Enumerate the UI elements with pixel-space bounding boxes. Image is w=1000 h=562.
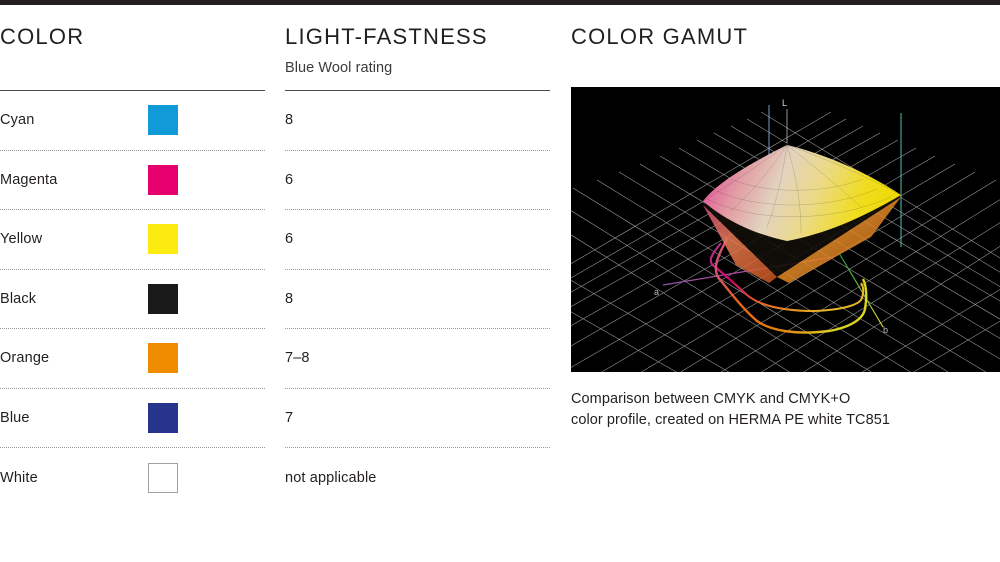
- color-swatch: [148, 224, 178, 254]
- axis-label-b: b: [883, 325, 888, 335]
- color-name: Magenta: [0, 172, 148, 188]
- blue-wool-rating-value: 6: [285, 231, 293, 247]
- light-fastness-row-list: 86687–87not applicable: [285, 91, 550, 508]
- table-row: 8: [285, 91, 550, 151]
- color-name: Yellow: [0, 231, 148, 247]
- gamut-caption-line-1: Comparison between CMYK and CMYK+O: [571, 389, 1000, 410]
- blue-wool-rating-value: 7–8: [285, 350, 310, 366]
- column-color-gamut: COLOR GAMUT: [571, 5, 1000, 49]
- blue-wool-rating-value: 6: [285, 172, 293, 188]
- color-swatch: [148, 463, 178, 493]
- table-row: not applicable: [285, 448, 550, 508]
- table-row: Cyan: [0, 91, 265, 151]
- color-name: Blue: [0, 410, 148, 426]
- gamut-3d-plot-image: a b: [571, 87, 1000, 372]
- color-row-list: CyanMagentaYellowBlackOrangeBlueWhite: [0, 91, 265, 508]
- column-light-fastness: LIGHT-FASTNESS Blue Wool rating 86687–87…: [285, 5, 550, 76]
- gamut-caption-line-2: color profile, created on HERMA PE white…: [571, 410, 1000, 431]
- page-content: COLOR CyanMagentaYellowBlackOrangeBlueWh…: [0, 5, 1000, 562]
- table-row: 6: [285, 210, 550, 270]
- column-light-fastness-subtitle: Blue Wool rating: [285, 49, 550, 76]
- axis-label-a: a: [654, 287, 659, 297]
- color-swatch: [148, 105, 178, 135]
- table-row: 7: [285, 389, 550, 449]
- color-name: Cyan: [0, 112, 148, 128]
- table-row: Blue: [0, 389, 265, 449]
- axis-label-l: L: [782, 98, 787, 108]
- color-name: White: [0, 470, 148, 486]
- color-name: Black: [0, 291, 148, 307]
- blue-wool-rating-value: 7: [285, 410, 293, 426]
- blue-wool-rating-value: not applicable: [285, 470, 377, 486]
- table-row: Magenta: [0, 151, 265, 211]
- column-color-title: COLOR: [0, 5, 265, 49]
- table-row: 8: [285, 270, 550, 330]
- color-swatch: [148, 165, 178, 195]
- blue-wool-rating-value: 8: [285, 112, 293, 128]
- color-swatch: [148, 284, 178, 314]
- column-color-gamut-title: COLOR GAMUT: [571, 5, 1000, 49]
- table-row: Yellow: [0, 210, 265, 270]
- table-row: 6: [285, 151, 550, 211]
- color-swatch: [148, 403, 178, 433]
- column-color: COLOR CyanMagentaYellowBlackOrangeBlueWh…: [0, 5, 265, 49]
- table-row: 7–8: [285, 329, 550, 389]
- blue-wool-rating-value: 8: [285, 291, 293, 307]
- table-row: White: [0, 448, 265, 508]
- table-row: Orange: [0, 329, 265, 389]
- color-swatch: [148, 343, 178, 373]
- column-light-fastness-title: LIGHT-FASTNESS: [285, 5, 550, 49]
- color-name: Orange: [0, 350, 148, 366]
- gamut-figure: a b: [571, 87, 1000, 431]
- gamut-caption: Comparison between CMYK and CMYK+O color…: [571, 372, 1000, 431]
- table-row: Black: [0, 270, 265, 330]
